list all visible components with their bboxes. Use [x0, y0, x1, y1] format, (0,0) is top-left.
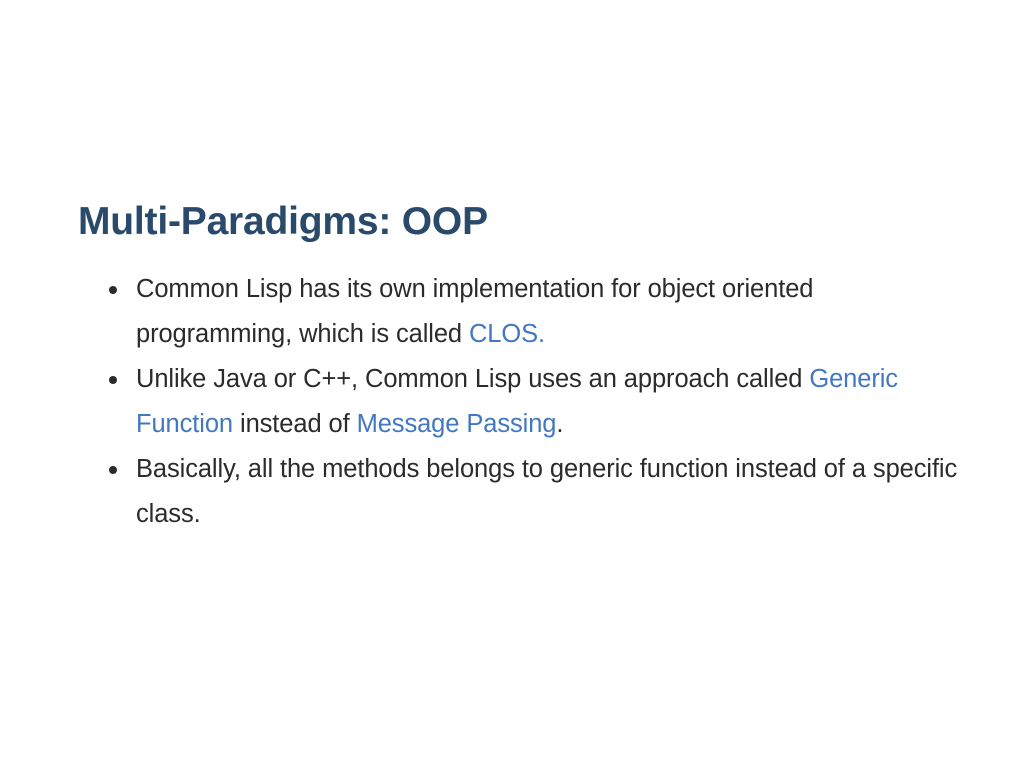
list-item-text: Unlike Java or C++, Common Lisp uses an … — [136, 365, 898, 438]
slide-canvas: Multi-Paradigms: OOP Common Lisp has its… — [0, 0, 1024, 769]
highlight-term-clos: CLOS — [469, 320, 538, 348]
text-segment: . — [538, 320, 545, 348]
list-item-text: Basically, all the methods belongs to ge… — [136, 455, 957, 528]
bullet-dot-icon — [109, 466, 117, 474]
text-segment: Unlike Java or C++, Common Lisp uses an … — [136, 365, 809, 393]
highlight-term-message-passing: Message Passing — [357, 410, 557, 438]
text-segment: instead of — [233, 410, 357, 438]
slide-content: Multi-Paradigms: OOP Common Lisp has its… — [78, 200, 958, 537]
list-item: Basically, all the methods belongs to ge… — [78, 447, 958, 537]
bullet-list: Common Lisp has its own implementation f… — [78, 267, 958, 537]
bullet-dot-icon — [109, 286, 117, 294]
list-item: Unlike Java or C++, Common Lisp uses an … — [78, 357, 958, 447]
text-segment: . — [556, 410, 563, 438]
list-item: Common Lisp has its own implementation f… — [78, 267, 958, 357]
page-title: Multi-Paradigms: OOP — [78, 200, 958, 245]
bullet-dot-icon — [109, 376, 117, 384]
list-item-text: Common Lisp has its own implementation f… — [136, 275, 813, 348]
